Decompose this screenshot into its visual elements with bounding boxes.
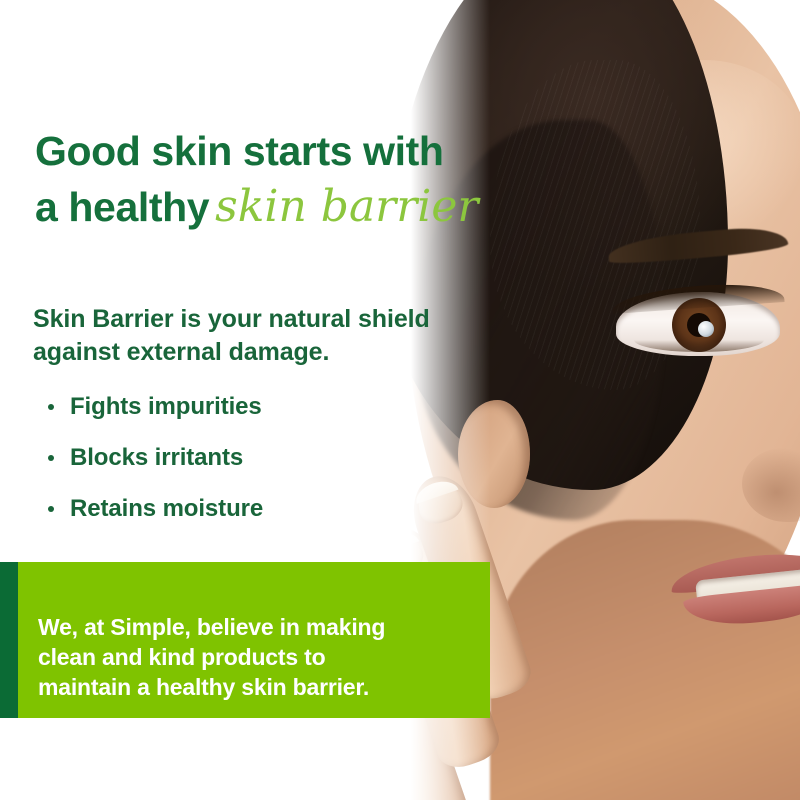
eye-catchlight (698, 321, 714, 337)
bullet-dot-icon (48, 404, 54, 410)
subheadline: Skin Barrier is your natural shield agai… (33, 303, 463, 369)
banner-line-3: maintain a healthy skin barrier. (38, 674, 369, 700)
headline-line-2-plain: a healthy (35, 184, 209, 230)
benefit-label: Blocks irritants (70, 444, 243, 471)
headline-script-emphasis: skin barrier (209, 181, 478, 232)
headline: Good skin starts with a healthyskin barr… (35, 123, 505, 235)
brand-statement-banner: We, at Simple, believe in making clean a… (0, 562, 490, 718)
bullet-dot-icon (48, 506, 54, 512)
subheadline-line-2: against external damage. (33, 338, 329, 366)
mouth (670, 548, 800, 626)
banner-line-2: clean and kind products to (38, 644, 325, 670)
list-item: Fights impurities (46, 392, 446, 422)
banner-line-1: We, at Simple, believe in making (38, 614, 385, 640)
headline-line-1: Good skin starts with (35, 128, 444, 174)
list-item: Retains moisture (46, 494, 446, 524)
banner-accent-stripe (0, 562, 18, 718)
list-item: Blocks irritants (46, 443, 446, 473)
benefits-list: Fights impurities Blocks irritants Retai… (46, 392, 446, 545)
benefit-label: Retains moisture (70, 495, 263, 522)
skincare-ad-canvas: Good skin starts with a healthyskin barr… (0, 0, 800, 800)
pupil (687, 313, 711, 337)
subheadline-line-1: Skin Barrier is your natural shield (33, 305, 430, 333)
eye (616, 292, 780, 356)
bullet-dot-icon (48, 455, 54, 461)
benefit-label: Fights impurities (70, 393, 262, 420)
banner-text: We, at Simple, believe in making clean a… (38, 612, 458, 702)
